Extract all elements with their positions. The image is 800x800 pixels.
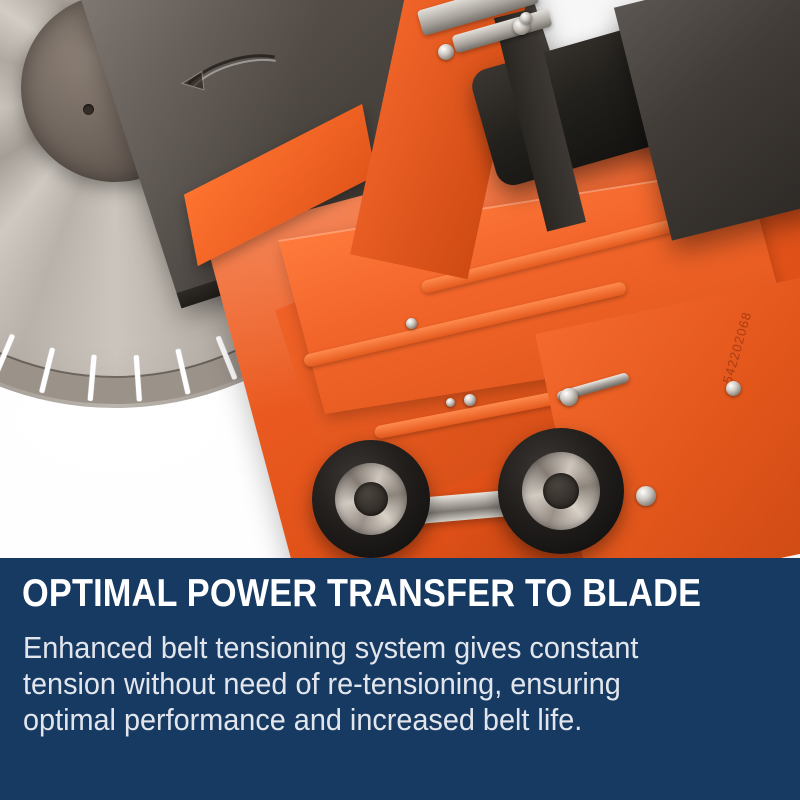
front-wheel-right xyxy=(498,428,624,554)
hex-bolt-icon xyxy=(520,12,532,24)
tension-nut-icon xyxy=(560,388,578,406)
hex-bolt-icon xyxy=(406,318,417,329)
hex-bolt-icon xyxy=(446,398,455,407)
blade-gullet xyxy=(39,347,55,393)
hex-bolt-icon xyxy=(438,44,454,60)
hex-bolt-icon xyxy=(726,381,741,396)
front-wheel-left xyxy=(312,440,430,558)
product-photo: 542202068 xyxy=(0,0,800,558)
wheel-bearing xyxy=(543,473,579,509)
hex-bolt-icon xyxy=(464,394,476,406)
hub-bolt-icon xyxy=(83,104,94,115)
wheel-bearing xyxy=(354,482,388,516)
feature-headline: OPTIMAL POWER TRANSFER TO BLADE xyxy=(22,572,701,616)
product-feature-card: 542202068 OPTIMAL POWER TRANSFER xyxy=(0,0,800,800)
blade-gullet xyxy=(134,355,142,401)
blade-gullet xyxy=(175,349,190,395)
hex-bolt-icon xyxy=(636,486,656,506)
caption-banner: OPTIMAL POWER TRANSFER TO BLADE Enhanced… xyxy=(0,558,800,800)
blade-gullet xyxy=(0,334,15,378)
blade-gullet xyxy=(88,355,97,401)
feature-description: Enhanced belt tensioning system gives co… xyxy=(23,630,674,738)
